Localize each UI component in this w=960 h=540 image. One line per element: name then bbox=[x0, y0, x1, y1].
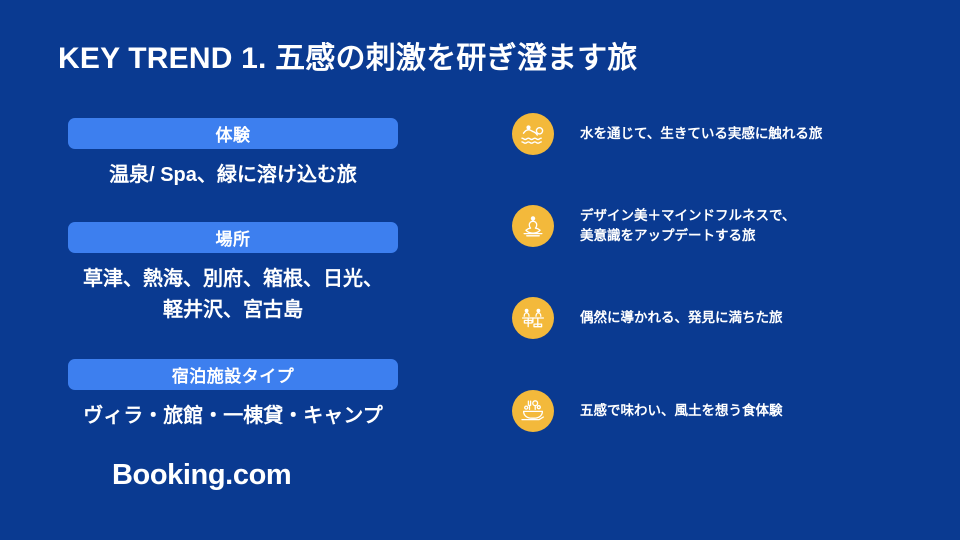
group-value-accommodation-type: ヴィラ・旅館・一棟貸・キャンプ bbox=[68, 401, 398, 432]
bullet-item: 五感で味わい、風土を想う食体験 bbox=[512, 390, 912, 432]
group-value-experience: 温泉/ Spa、緑に溶け込む旅 bbox=[68, 160, 398, 191]
bullet-text: 水を通じて、生きている実感に触れる旅 bbox=[580, 124, 822, 144]
group-pill-experience: 体験 bbox=[68, 118, 398, 149]
food-bowl-icon bbox=[512, 390, 554, 432]
bullet-item: 偶然に導かれる、発見に満ちた旅 bbox=[512, 297, 912, 339]
group-accommodation-type: 宿泊施設タイプ ヴィラ・旅館・一棟貸・キャンプ bbox=[68, 359, 398, 432]
pill-label-location: 場所 bbox=[216, 225, 251, 250]
bullet-item: デザイン美＋マインドフルネスで、 美意識をアップデートする旅 bbox=[512, 205, 912, 247]
meditation-lotus-icon bbox=[512, 205, 554, 247]
group-experience: 体験 温泉/ Spa、緑に溶け込む旅 bbox=[68, 118, 398, 191]
bullet-text: 偶然に導かれる、発見に満ちた旅 bbox=[580, 308, 783, 328]
bullet-text: 五感で味わい、風土を想う食体験 bbox=[580, 401, 783, 421]
signpost-discovery-icon bbox=[512, 297, 554, 339]
group-value-location: 草津、熱海、別府、箱根、日光、 軽井沢、宮古島 bbox=[68, 264, 398, 326]
bullet-text-line: デザイン美＋マインドフルネスで、 bbox=[580, 206, 795, 226]
pill-label-accommodation-type: 宿泊施設タイプ bbox=[172, 362, 295, 387]
bullet-text-line: 水を通じて、生きている実感に触れる旅 bbox=[580, 124, 822, 144]
page-title: KEY TREND 1. 五感の刺激を研ぎ澄ます旅 bbox=[58, 33, 638, 77]
bullet-text-line: 偶然に導かれる、発見に満ちた旅 bbox=[580, 308, 783, 328]
pill-label-experience: 体験 bbox=[216, 121, 251, 146]
bullet-text: デザイン美＋マインドフルネスで、 美意識をアップデートする旅 bbox=[580, 206, 795, 247]
group-pill-location: 場所 bbox=[68, 222, 398, 253]
booking-logo: Booking.com bbox=[112, 459, 291, 492]
bullet-text-line: 美意識をアップデートする旅 bbox=[580, 226, 795, 246]
slide-canvas: KEY TREND 1. 五感の刺激を研ぎ澄ます旅 体験 温泉/ Spa、緑に溶… bbox=[0, 0, 960, 540]
bullet-text-line: 五感で味わい、風土を想う食体験 bbox=[580, 401, 783, 421]
group-pill-accommodation-type: 宿泊施設タイプ bbox=[68, 359, 398, 390]
group-location: 場所 草津、熱海、別府、箱根、日光、 軽井沢、宮古島 bbox=[68, 222, 398, 326]
bullet-item: 水を通じて、生きている実感に触れる旅 bbox=[512, 113, 912, 155]
group-value-line: 温泉/ Spa、緑に溶け込む旅 bbox=[68, 160, 398, 191]
group-value-line: ヴィラ・旅館・一棟貸・キャンプ bbox=[68, 401, 398, 432]
group-value-line: 軽井沢、宮古島 bbox=[68, 295, 398, 326]
group-value-line: 草津、熱海、別府、箱根、日光、 bbox=[68, 264, 398, 295]
swimmer-water-icon bbox=[512, 113, 554, 155]
